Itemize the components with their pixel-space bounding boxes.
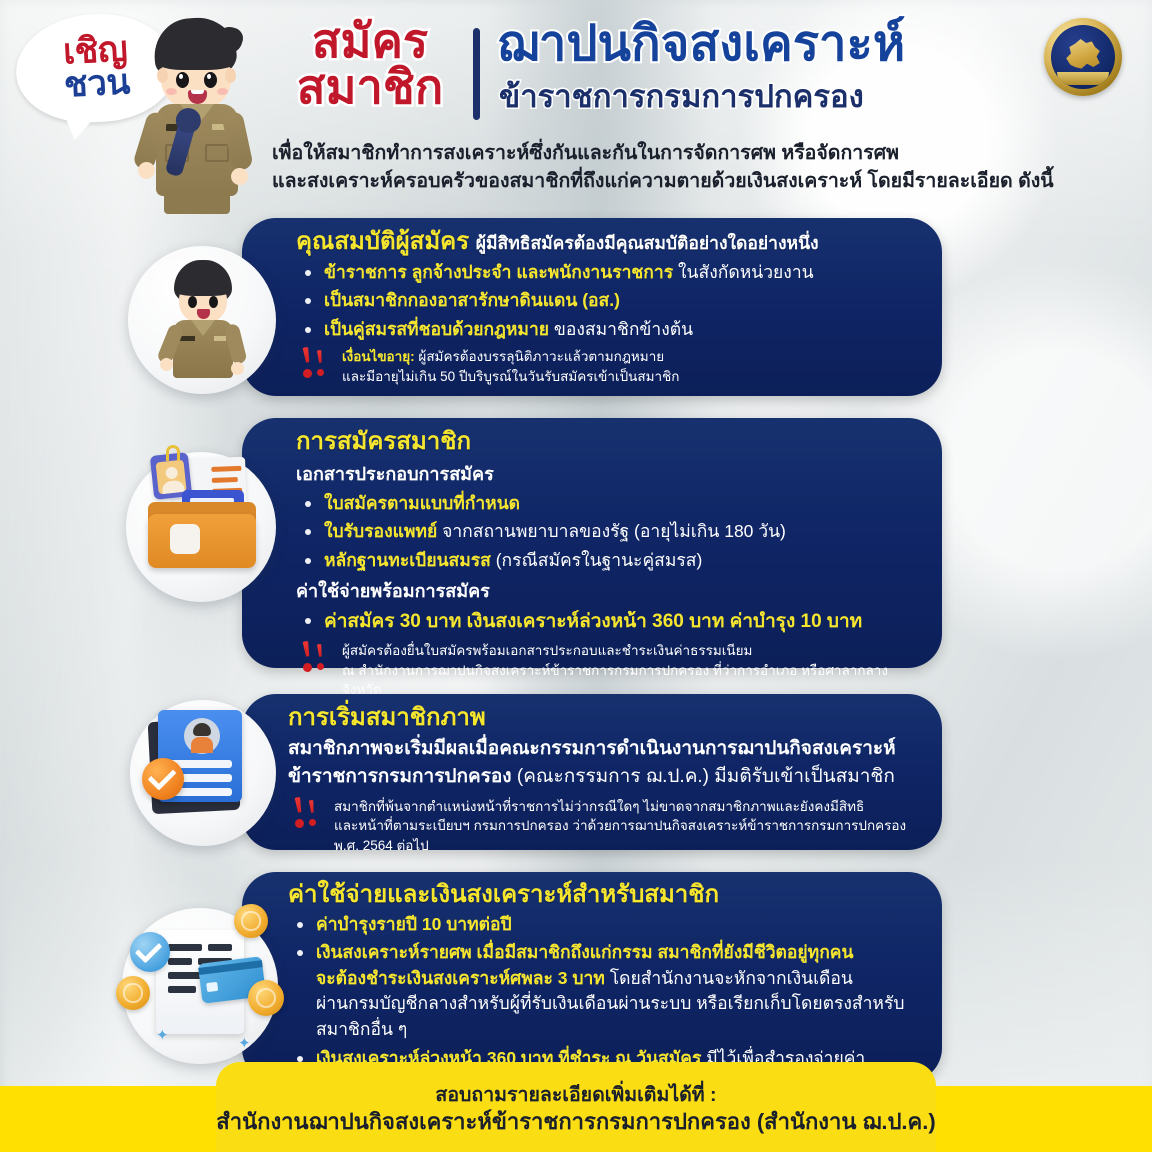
- bullet-1-highlight: ข้าราชการ ลูกจ้างประจำ และพนักงานราชการ: [324, 262, 673, 282]
- title-left-line1: สมัคร: [275, 18, 465, 64]
- page-subtitle: ข้าราชการกรมการปกครอง: [499, 80, 864, 114]
- warning-label: เงื่อนไขอายุ:: [342, 349, 415, 364]
- emblem-ribbon: [1057, 72, 1109, 85]
- section-2-heading: การสมัครสมาชิก: [296, 428, 916, 457]
- exclamation-dot-2: [317, 369, 324, 376]
- mascot-eye-left: [176, 72, 189, 88]
- page-title: ฌาปนกิจสงเคราะห์: [497, 20, 905, 70]
- section-2-warning-text: ผู้สมัครต้องยื่นใบสมัครพร้อมเอกสารประกอบ…: [342, 641, 916, 700]
- card-avatar-photo: [184, 718, 220, 754]
- exclamation-dot-1: [302, 663, 312, 673]
- exclamation-dot-1: [302, 369, 312, 379]
- receipt-line: [208, 944, 232, 951]
- list-item: ใบรับรองแพทย์ จากสถานพยาบาลของรัฐ (อายุไ…: [296, 519, 916, 545]
- section-how-to-apply: การสมัครสมาชิก เอกสารประกอบการสมัคร ใบสม…: [242, 418, 942, 668]
- exclamation-bar-1: [300, 641, 313, 664]
- section-3-body-line-1: สมาชิกภาพจะเริ่มมีผลเมื่อคณะกรรมการดำเนิ…: [288, 735, 916, 764]
- avatar-fringe: [176, 275, 230, 296]
- exclamation-bar-2: [307, 799, 317, 818]
- avatar-collar: [191, 320, 215, 336]
- section-3-body-rest: (คณะกรรมการ ฌ.ป.ค.) มีมติรับเข้าเป็นสมาช…: [512, 766, 895, 787]
- warning-line-2: และหน้าที่ตามระเบียบฯ กรมการปกครอง ว่าด้…: [334, 816, 916, 855]
- bullet-1-rest: ในสังกัดหน่วยงาน: [673, 262, 813, 282]
- mascot-cheek-left: [166, 88, 177, 95]
- exclamation-bar-2: [315, 350, 325, 369]
- mascot-ear-left: [157, 68, 168, 83]
- sparkle-icon: ✦: [238, 1034, 251, 1052]
- list-item: ใบสมัครตามแบบที่กำหนด: [296, 491, 916, 517]
- bullet-3-highlight: เป็นคู่สมรสที่ชอบด้วยกฎหมาย: [324, 319, 549, 339]
- blue-check-badge-icon: [130, 932, 170, 972]
- section-3-warning-text: สมาชิกที่พ้นจากตำแหน่งหน้าที่ราชการไม่ว่…: [334, 797, 916, 856]
- doc-3-rest: (กรณีสมัครในฐานะคู่สมรส): [491, 550, 702, 570]
- paperclip-icon: [166, 445, 180, 461]
- list-item: หลักฐานทะเบียนสมรส (กรณีสมัครในฐานะคู่สม…: [296, 548, 916, 574]
- fee-item-2-sub-2: ผ่านกรมบัญชีกลางสำหรับผู้ที่รับเงินเดือน…: [316, 991, 916, 1042]
- fee-item-2-sub-1: จะต้องชำระเงินสงเคราะห์ศพละ 3 บาท โดยสำน…: [316, 966, 916, 992]
- officer-avatar-icon: [128, 246, 276, 394]
- section-2-fee-list: ค่าสมัคร 30 บาท เงินสงเคราะห์ล่วงหน้า 36…: [296, 608, 916, 636]
- avatar-eye-right: [209, 296, 218, 308]
- warning-line-1: สมาชิกที่พ้นจากตำแหน่งหน้าที่ราชการไม่ว่…: [334, 797, 916, 817]
- section-2-sublabel-fees: ค่าใช้จ่ายพร้อมการสมัคร: [296, 576, 916, 605]
- avatar-hand-right: [231, 362, 244, 375]
- list-item: เงินสงเคราะห์รายศพ เมื่อมีสมาชิกถึงแก่กร…: [288, 940, 916, 1042]
- fee-item-2-sub-1-hl: จะต้องชำระเงินสงเคราะห์ศพละ 3 บาท: [316, 968, 605, 988]
- section-2-warning: ผู้สมัครต้องยื่นใบสมัครพร้อมเอกสารประกอบ…: [296, 641, 916, 700]
- receipt-line: [168, 958, 192, 965]
- avatar-eye-left: [188, 296, 197, 308]
- exclamation-icon: [300, 639, 334, 673]
- section-1-bullet-list: ข้าราชการ ลูกจ้างประจำ และพนักงานราชการ …: [296, 260, 916, 343]
- fee-item-2-sub-1-rest: โดยสำนักงานจะหักจากเงินเดือน: [605, 968, 853, 988]
- section-1-heading-note: ผู้มีสิทธิสมัครต้องมีคุณสมบัติอย่างใดอย่…: [476, 233, 819, 253]
- mascot-cheek-right: [217, 88, 228, 95]
- section-membership-start: การเริ่มสมาชิกภาพ สมาชิกภาพจะเริ่มมีผลเม…: [242, 694, 942, 850]
- id-card-torso: [162, 480, 185, 494]
- header: เชิญ ชวน: [0, 0, 1152, 210]
- mascot-hand-right: [231, 168, 248, 185]
- avatar-rank-tag: [214, 336, 226, 341]
- mascot-officer-illustration: [128, 16, 260, 212]
- warning-line-2: และมีอายุไม่เกิน 50 ปีบริบูรณ์ในวันรับสม…: [342, 367, 916, 387]
- infographic-page: เชิญ ชวน: [0, 0, 1152, 1152]
- receipt-line: [168, 944, 202, 951]
- check-badge-icon: [142, 758, 184, 800]
- list-item: เป็นคู่สมรสที่ชอบด้วยกฎหมาย ของสมาชิกข้า…: [296, 317, 916, 343]
- mascot-ear-right: [225, 68, 236, 83]
- mascot-eye-right: [204, 72, 217, 88]
- warning-line-1: เงื่อนไขอายุ: ผู้สมัครต้องบรรลุนิติภาวะแ…: [342, 347, 916, 367]
- warning-line-1: ผู้สมัครต้องยื่นใบสมัครพร้อมเอกสารประกอบ…: [342, 641, 916, 661]
- doc-2-rest: จากสถานพยาบาลของรัฐ (อายุไม่เกิน 180 วัน…: [437, 521, 786, 541]
- exclamation-dot-2: [317, 663, 324, 670]
- document-folder-icon: [126, 452, 276, 602]
- avatar: [160, 260, 246, 384]
- fee-item-1: ค่าบำรุงรายปี 10 บาทต่อปี: [316, 914, 512, 934]
- receipt-line: [168, 986, 196, 993]
- section-3-heading: การเริ่มสมาชิกภาพ: [288, 704, 916, 733]
- section-4-heading: ค่าใช้จ่ายและเงินสงเคราะห์สำหรับสมาชิก: [288, 881, 916, 910]
- speech-bubble-line2: ชวน: [63, 66, 130, 102]
- section-1-warning-text: เงื่อนไขอายุ: ผู้สมัครต้องบรรลุนิติภาวะแ…: [342, 347, 916, 386]
- section-1-warning: เงื่อนไขอายุ: ผู้สมัครต้องบรรลุนิติภาวะแ…: [296, 347, 916, 386]
- doc-3-highlight: หลักฐานทะเบียนสมรส: [324, 550, 491, 570]
- avatar-hand-left: [160, 358, 173, 371]
- exclamation-bar-1: [300, 347, 313, 370]
- section-3-body-line-2: ข้าราชการกรมการปกครอง (คณะกรรมการ ฌ.ป.ค.…: [288, 763, 916, 792]
- coin-icon: [116, 976, 150, 1010]
- mascot-hand-left: [138, 162, 155, 179]
- membership-card-icon: [130, 700, 276, 846]
- bullet-2-highlight: เป็นสมาชิกกองอาสารักษาดินแดน (อส.): [324, 290, 620, 310]
- section-2-sublabel-documents: เอกสารประกอบการสมัคร: [296, 459, 916, 488]
- coin-icon: [248, 980, 284, 1016]
- section-1-heading-text: คุณสมบัติผู้สมัคร: [296, 228, 469, 255]
- doc-line: [212, 477, 238, 483]
- warning-line-1-rest: ผู้สมัครต้องบรรลุนิติภาวะแล้วตามกฎหมาย: [415, 349, 665, 364]
- exclamation-bar-2: [315, 644, 325, 663]
- sparkle-icon: ✦: [156, 1026, 169, 1044]
- doc-1-highlight: ใบสมัครตามแบบที่กำหนด: [324, 493, 520, 513]
- intro-line-2: และสงเคราะห์ครอบครัวของสมาชิกที่ถึงแก่คว…: [272, 168, 1092, 196]
- emblem-inner: [1051, 25, 1115, 89]
- list-item: ค่าสมัคร 30 บาท เงินสงเคราะห์ล่วงหน้า 36…: [296, 608, 916, 636]
- title-left-line2: สมาชิก: [275, 64, 465, 110]
- section-fees-and-benefits: ค่าใช้จ่ายและเงินสงเคราะห์สำหรับสมาชิก ค…: [242, 872, 942, 1082]
- exclamation-dot-2: [309, 819, 316, 826]
- footer-line-1: สอบถามรายละเอียดเพิ่มเติมได้ที่ :: [435, 1083, 716, 1108]
- exclamation-dot-1: [294, 818, 304, 828]
- section-1-heading: คุณสมบัติผู้สมัคร ผู้มีสิทธิสมัครต้องมีค…: [296, 228, 916, 257]
- intro-line-1: เพื่อให้สมาชิกทำการสงเคราะห์ซึ่งกันและกั…: [272, 140, 1092, 168]
- bullet-3-rest: ของสมาชิกข้างต้น: [549, 319, 693, 339]
- doc-2-highlight: ใบรับรองแพทย์: [324, 521, 437, 541]
- department-emblem-icon: [1044, 18, 1122, 96]
- intro-text: เพื่อให้สมาชิกทำการสงเคราะห์ซึ่งกันและกั…: [272, 140, 1092, 195]
- mascot-pocket-right: [205, 144, 229, 162]
- avatar-name-tag: [180, 336, 195, 341]
- title-divider: [473, 28, 480, 120]
- footer-contact-card: สอบถามรายละเอียดเพิ่มเติมได้ที่ : สำนักง…: [216, 1062, 936, 1152]
- coin-icon: [234, 904, 268, 938]
- exclamation-icon: [292, 795, 326, 829]
- list-item: ค่าบำรุงรายปี 10 บาทต่อปี: [288, 912, 916, 938]
- doc-line: [211, 466, 241, 472]
- lion-icon: [1063, 35, 1103, 75]
- section-qualifications: คุณสมบัติผู้สมัคร ผู้มีสิทธิสมัครต้องมีค…: [242, 218, 942, 396]
- fee-bullet-text: ค่าสมัคร 30 บาท เงินสงเคราะห์ล่วงหน้า 36…: [324, 611, 862, 632]
- section-3-body-highlight: ข้าราชการกรมการปกครอง: [288, 766, 512, 787]
- list-item: เป็นสมาชิกกองอาสารักษาดินแดน (อส.): [296, 288, 916, 314]
- fee-item-2: เงินสงเคราะห์รายศพ เมื่อมีสมาชิกถึงแก่กร…: [316, 942, 853, 962]
- title-left: สมัคร สมาชิก: [275, 18, 465, 109]
- section-3-warning: สมาชิกที่พ้นจากตำแหน่งหน้าที่ราชการไม่ว่…: [288, 797, 916, 856]
- mascot-legs: [164, 188, 230, 214]
- footer-line-2: สำนักงานฌาปนกิจสงเคราะห์ข้าราชการกรมการป…: [216, 1108, 935, 1137]
- folder-front: [148, 514, 256, 568]
- exclamation-bar-1: [292, 796, 305, 819]
- receipt-coins-icon: ✦ ✦: [122, 908, 278, 1064]
- section-2-document-list: ใบสมัครตามแบบที่กำหนด ใบรับรองแพทย์ จากส…: [296, 491, 916, 574]
- list-item: ข้าราชการ ลูกจ้างประจำ และพนักงานราชการ …: [296, 260, 916, 286]
- exclamation-icon: [300, 345, 334, 379]
